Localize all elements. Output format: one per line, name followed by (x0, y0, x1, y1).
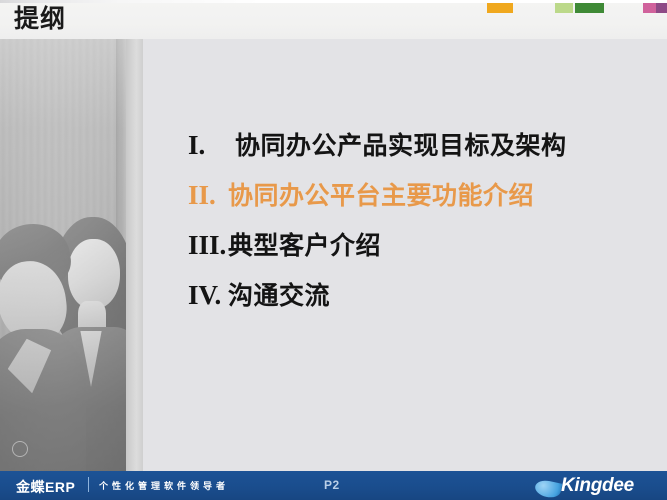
page-title: 提纲 (14, 3, 66, 36)
list-item[interactable]: I. 协同办公产品实现目标及架构 (188, 128, 618, 163)
list-item[interactable]: II. 协同办公平台主要功能介绍 (188, 178, 618, 213)
deco-block-light-green (555, 3, 573, 13)
list-item-label: 典型客户介绍 (228, 229, 381, 263)
list-item-label: 协同办公产品实现目标及架构 (235, 129, 567, 163)
footer-brand: 金蝶ERP (16, 477, 75, 497)
list-item[interactable]: IV. 沟通交流 (188, 278, 618, 313)
deco-block-purple (656, 3, 667, 13)
left-photo-panel (0, 39, 143, 471)
deco-block-orange (487, 3, 513, 13)
slide-header: 提纲 (0, 0, 667, 39)
list-item-number: III. (188, 228, 228, 262)
list-item-label: 协同办公平台主要功能介绍 (228, 179, 534, 213)
outline-list: I. 协同办公产品实现目标及架构 II. 协同办公平台主要功能介绍 III. 典… (188, 128, 618, 328)
kingdee-logo: Kingdee (535, 474, 653, 498)
list-item-number: II. (188, 178, 228, 212)
photo-right-strip (126, 39, 143, 471)
footer-tagline: 个性化管理软件领导者 (99, 479, 229, 492)
list-item[interactable]: III. 典型客户介绍 (188, 228, 618, 263)
slide: 提纲 I. 协同办公产品实现目标及架构 I (0, 0, 667, 500)
decorative-color-blocks (480, 3, 667, 14)
deco-block-pink (643, 3, 656, 13)
deco-block-dark-green (575, 3, 604, 13)
list-item-number: IV. (188, 278, 228, 312)
list-item-label: 沟通交流 (228, 279, 330, 313)
slide-footer: 金蝶ERP 个性化管理软件领导者 P2 Kingdee (0, 471, 667, 500)
footer-separator (88, 477, 89, 492)
page-number: P2 (324, 478, 340, 492)
swoosh-icon (534, 478, 563, 499)
kingdee-logo-text: Kingdee (561, 475, 634, 497)
photo-white-overlay (0, 39, 143, 471)
photo-watermark-icon (12, 441, 28, 457)
list-item-number: I. (188, 128, 235, 162)
